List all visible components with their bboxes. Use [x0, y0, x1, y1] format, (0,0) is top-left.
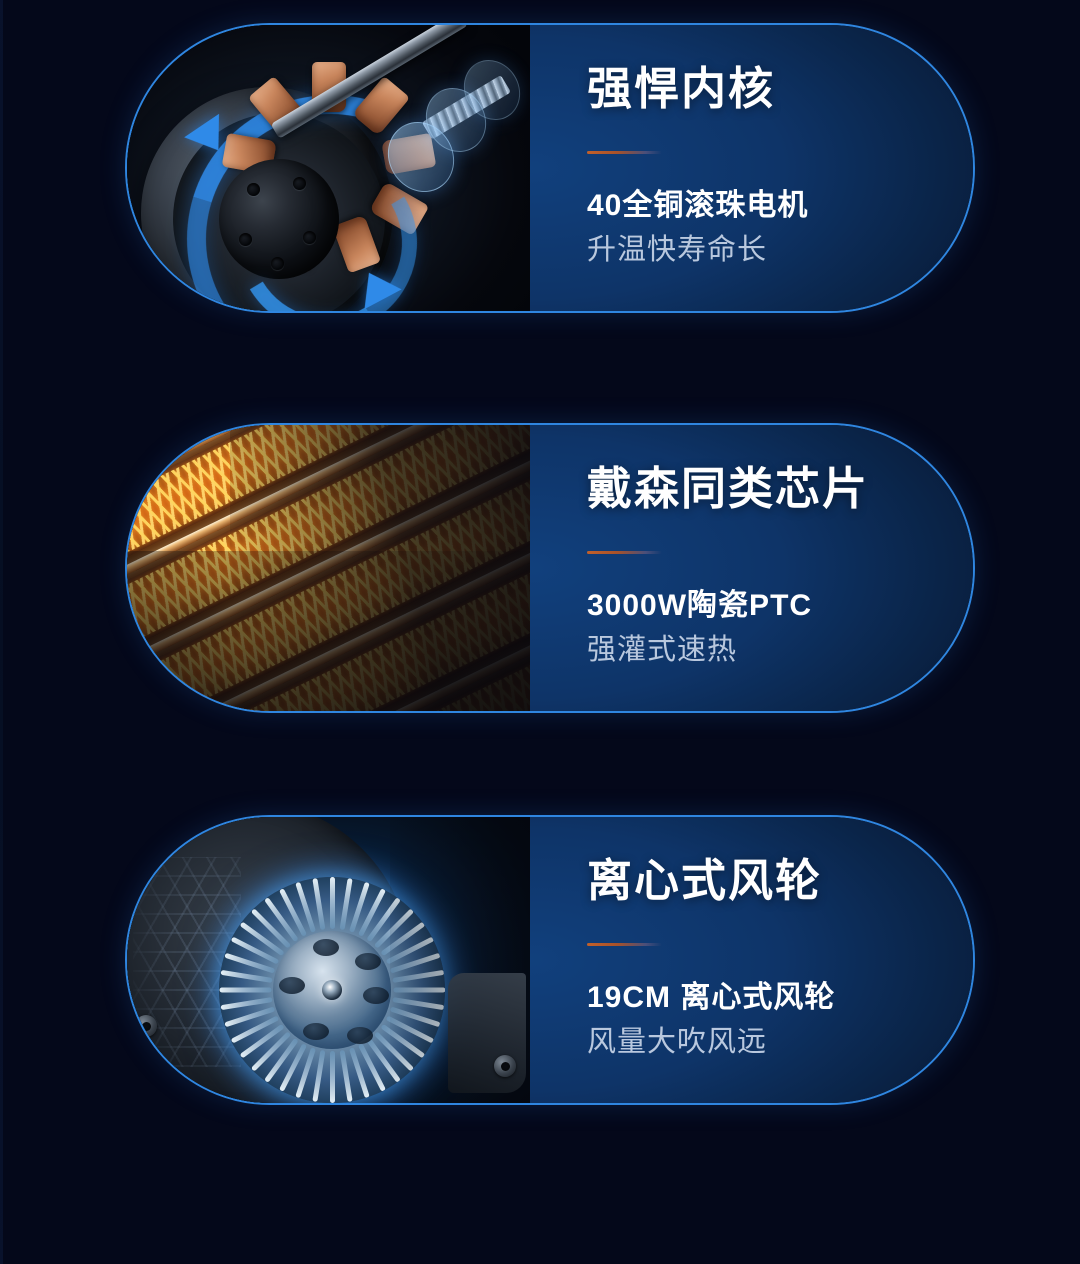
- accent-divider: [587, 151, 662, 154]
- card-subtitle-secondary: 升温快寿命长: [587, 232, 973, 270]
- accent-divider: [587, 943, 662, 946]
- card-subtitle-primary: 3000W陶瓷PTC: [587, 588, 973, 625]
- card-subtitle-secondary: 强灌式速热: [587, 632, 973, 670]
- accent-divider: [587, 551, 662, 554]
- feature-card-fan[interactable]: 离心式风轮 19CM 离心式风轮 风量大吹风远: [125, 815, 975, 1105]
- feature-card-motor[interactable]: 强悍内核 40全铜滚珠电机 升温快寿命长: [125, 23, 975, 313]
- card-subtitle-primary: 40全铜滚珠电机: [587, 188, 973, 225]
- card-title: 强悍内核: [587, 66, 973, 111]
- card-title: 戴森同类芯片: [587, 466, 973, 511]
- card-subtitle-primary: 19CM 离心式风轮: [587, 980, 973, 1017]
- card-image-ptc: [127, 425, 530, 711]
- card-text-panel-motor: 强悍内核 40全铜滚珠电机 升温快寿命长: [530, 25, 973, 311]
- card-title: 离心式风轮: [587, 858, 973, 903]
- card-text-panel-ptc: 戴森同类芯片 3000W陶瓷PTC 强灌式速热: [530, 425, 973, 711]
- card-image-motor: [127, 25, 530, 311]
- card-text-panel-fan: 离心式风轮 19CM 离心式风轮 风量大吹风远: [530, 817, 973, 1103]
- feature-card-stack: 强悍内核 40全铜滚珠电机 升温快寿命长: [0, 0, 1080, 1264]
- feature-card-ptc[interactable]: 戴森同类芯片 3000W陶瓷PTC 强灌式速热: [125, 423, 975, 713]
- card-image-fan: [127, 817, 530, 1103]
- card-subtitle-secondary: 风量大吹风远: [587, 1024, 973, 1062]
